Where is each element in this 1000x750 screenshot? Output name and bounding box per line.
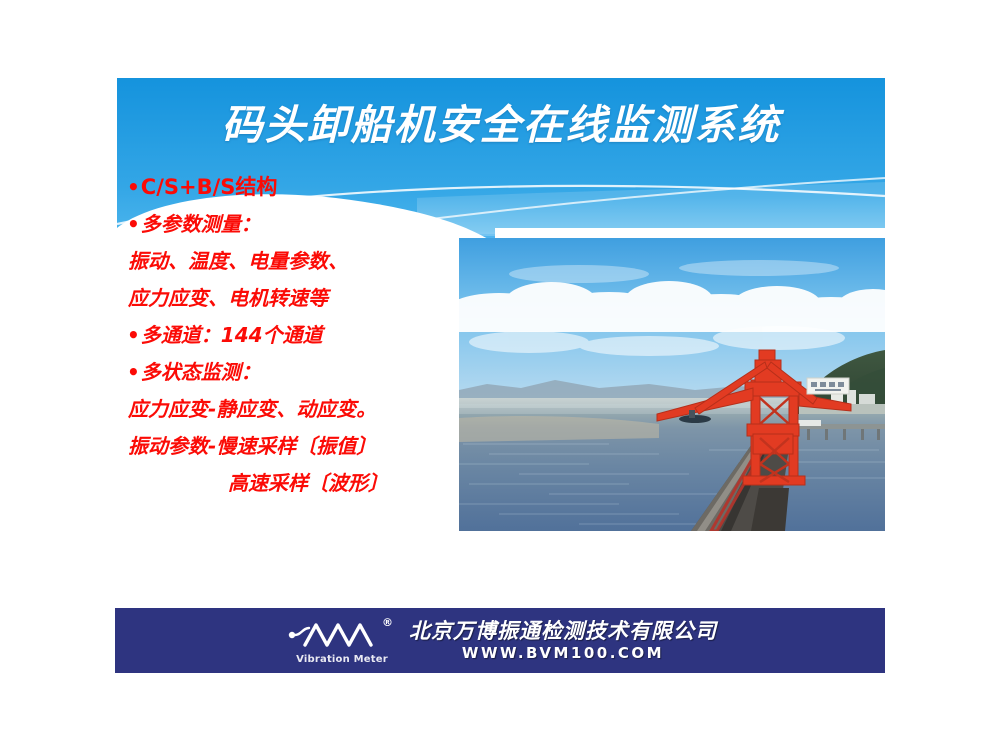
slide-title: 码头卸船机安全在线监测系统 xyxy=(117,100,885,150)
registered-mark-icon: ® xyxy=(382,617,393,628)
bullet-marker: • xyxy=(127,212,140,236)
vibration-meter-logo: ® Vibration Meter xyxy=(283,617,395,665)
bullet-text: 高速采样〔波形〕 xyxy=(228,471,388,495)
company-name: 北京万博振通检测技术有限公司 xyxy=(409,621,717,642)
wave-icon xyxy=(283,619,387,649)
bullet-marker: • xyxy=(127,360,140,384)
presentation-slide: 码头卸船机安全在线监测系统 •C/S+B/S结构 •多参数测量： 振动、温度、电… xyxy=(0,0,1000,750)
footer-text-block: 北京万博振通检测技术有限公司 WWW.BVM100.COM xyxy=(409,621,717,661)
bullet-text: 多参数测量： xyxy=(141,212,261,236)
bullet-text: 多状态监测： xyxy=(141,360,261,384)
bullet-text: C/S+B/S结构 xyxy=(141,175,278,199)
bullet-item-0: •C/S+B/S结构 xyxy=(127,169,527,206)
slide-content-card: 码头卸船机安全在线监测系统 •C/S+B/S结构 •多参数测量： 振动、温度、电… xyxy=(117,78,885,538)
crane-photo xyxy=(459,238,885,531)
company-website[interactable]: WWW.BVM100.COM xyxy=(409,646,717,661)
logo-subtitle: Vibration Meter xyxy=(289,654,395,665)
crane-photo-artwork xyxy=(459,238,885,531)
bullet-marker: • xyxy=(127,323,140,347)
bullet-marker: • xyxy=(127,175,140,199)
bullet-text: 应力应变-静应变、动应变。 xyxy=(128,397,376,421)
footer-content: ® Vibration Meter 北京万博振通检测技术有限公司 WWW.BVM… xyxy=(283,617,717,665)
bullet-text: 振动、温度、电量参数、 xyxy=(128,249,348,273)
bullet-text: 多通道：144个通道 xyxy=(141,323,323,347)
footer-bar: ® Vibration Meter 北京万博振通检测技术有限公司 WWW.BVM… xyxy=(115,608,885,673)
bullet-text: 振动参数-慢速采样〔振值〕 xyxy=(128,434,376,458)
bullet-text: 应力应变、电机转速等 xyxy=(128,286,328,310)
